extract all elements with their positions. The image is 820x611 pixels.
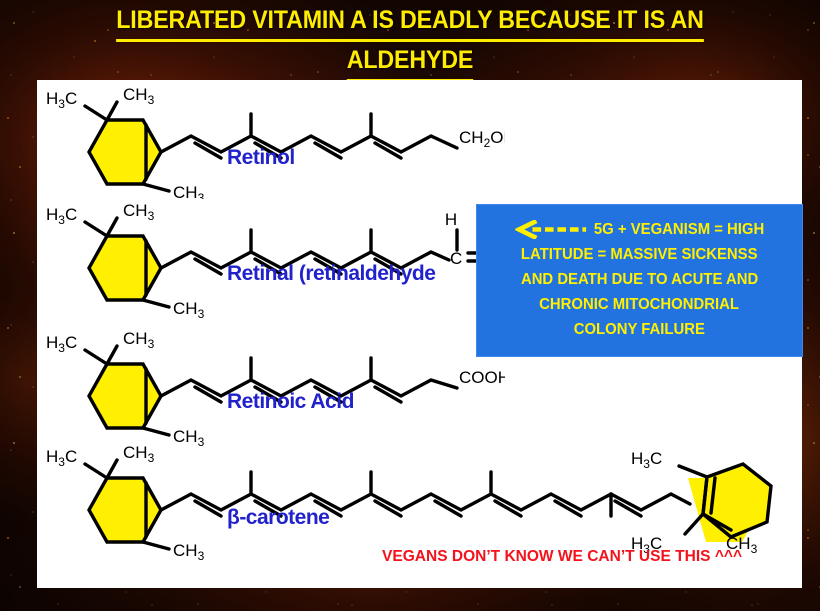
retinoic-terminal-group: COOH bbox=[459, 368, 505, 387]
carotene-left-ch3-top: CH3 bbox=[123, 443, 155, 465]
molecule-retinoic-acid: H3C CH3 CH3 COOH Retinoic Acid bbox=[45, 328, 505, 446]
retinol-name-label: Retinol bbox=[227, 146, 295, 170]
retinol-structure-svg: H3C CH3 CH3 CH2OH bbox=[45, 84, 505, 199]
retinoic-label-ch3-top: CH3 bbox=[123, 329, 155, 351]
retinol-terminal-group: CH2OH bbox=[459, 128, 505, 150]
retinal-name-label: Retinal (retinaldehyde bbox=[227, 262, 435, 286]
retinoic-acid-name-label: Retinoic Acid bbox=[227, 390, 354, 414]
beta-carotene-name-label: β-carotene bbox=[227, 506, 329, 530]
slide-title: LIBERATED VITAMIN A IS DEADLY BECAUSE IT… bbox=[29, 2, 792, 82]
retinal-label-ch3-bottom: CH3 bbox=[173, 299, 205, 318]
retinal-terminal-c: C bbox=[450, 249, 462, 268]
carotene-left-h3c: H3C bbox=[46, 447, 77, 469]
retinol-label-ch3-top: CH3 bbox=[123, 85, 155, 107]
retinoic-label-h3c: H3C bbox=[46, 333, 77, 355]
carotene-left-ch3-bottom: CH3 bbox=[173, 541, 205, 563]
red-annotation-note: VEGANS DON’T KNOW WE CAN’T USE THIS ^^^ bbox=[382, 548, 742, 566]
callout-line-1: 5G + VEGANISM = HIGH bbox=[594, 217, 764, 242]
retinol-label-ch3-bottom: CH3 bbox=[173, 183, 205, 199]
callout-line-3: AND DEATH DUE TO ACUTE AND bbox=[521, 267, 758, 292]
carotene-right-h3c-top: H3C bbox=[631, 449, 662, 471]
callout-line-5: COLONY FAILURE bbox=[574, 317, 705, 342]
blue-callout-box: 5G + VEGANISM = HIGH LATITUDE = MASSIVE … bbox=[476, 204, 803, 357]
retinoic-acid-structure-svg: H3C CH3 CH3 COOH bbox=[45, 328, 505, 446]
retinal-structure-svg: H3C CH3 CH3 H C O bbox=[45, 200, 505, 318]
retinal-label-h3c: H3C bbox=[46, 205, 77, 227]
title-line-2: ALDEHYDE bbox=[347, 42, 473, 82]
callout-line-1-row: 5G + VEGANISM = HIGH bbox=[515, 217, 764, 242]
title-line-1: LIBERATED VITAMIN A IS DEADLY BECAUSE IT… bbox=[116, 2, 703, 42]
retinal-label-ch3-top: CH3 bbox=[123, 201, 155, 223]
slide-stage: LIBERATED VITAMIN A IS DEADLY BECAUSE IT… bbox=[0, 0, 820, 611]
retinal-terminal-h: H bbox=[445, 210, 457, 229]
left-arrow-icon bbox=[515, 220, 586, 239]
molecule-retinol: H3C CH3 CH3 CH2OH Retinol bbox=[45, 84, 505, 199]
retinol-label-h3c: H3C bbox=[46, 89, 77, 111]
callout-line-2: LATITUDE = MASSIVE SICKENSS bbox=[521, 242, 758, 267]
molecule-retinal: H3C CH3 CH3 H C O Retinal (retinaldehyde bbox=[45, 200, 505, 318]
callout-line-4: CHRONIC MITOCHONDRIAL bbox=[540, 292, 740, 317]
